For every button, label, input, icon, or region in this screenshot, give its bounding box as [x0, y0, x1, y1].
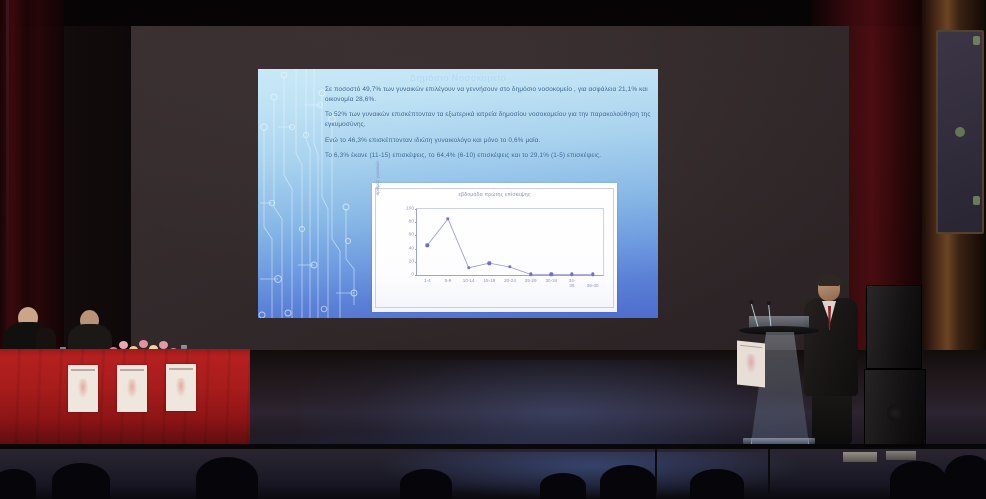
chart-y-tick-mark [415, 262, 418, 263]
slide-paragraph: Ενώ το 46,3% επισκέπτονταν ιδιώτη γυναικ… [325, 136, 652, 146]
chart-y-tick: 60 [409, 233, 414, 238]
projected-slide: Δημόσιο Νοσοκομείο Σε ποσοστό 49,7% των … [258, 69, 658, 318]
chart-y-tick-mark [415, 249, 418, 250]
chart-y-tick-mark [415, 209, 418, 210]
speaker-cone [887, 405, 903, 421]
chart-data-point [570, 273, 573, 276]
lectern-poster [737, 341, 765, 388]
chart-y-axis-label: αριθμός γυναικών [375, 147, 384, 209]
chart-x-tick: 10-14 [463, 278, 475, 283]
glasses-icon [819, 285, 839, 290]
chart-x-tick: 1-4 [424, 278, 431, 283]
chart-y-tick: 100 [406, 207, 414, 212]
audience-head [52, 463, 110, 499]
chart-title: εβδομάδα πρώτης επίσκεψης [372, 192, 617, 198]
chart-y-tick-mark [415, 235, 418, 236]
chart-y-tick-mark [415, 275, 418, 276]
audience-head [890, 461, 946, 499]
chart-y-tick: 40 [409, 246, 414, 251]
chart-data-point [529, 273, 532, 276]
chart-x-tick: 5-9 [445, 278, 452, 283]
slide-title: Δημόσιο Νοσοκομείο [258, 73, 658, 83]
slide-paragraph: Σε ποσοστό 49,7% των γυναικών επιλέγουν … [325, 85, 652, 105]
pa-speaker-stack [866, 285, 924, 445]
table-document [117, 365, 147, 412]
audience-head [196, 457, 258, 499]
presenter-hair [817, 274, 841, 285]
chart-y-tick-mark [415, 222, 418, 223]
audience-head [690, 469, 744, 499]
audience-head [540, 473, 586, 499]
lectern [737, 310, 821, 445]
chart-x-tick: 34-36 [569, 278, 576, 288]
table-document [68, 365, 98, 412]
chart-x-tick: 15-19 [483, 278, 495, 283]
chart-x-tick: 25-29 [525, 278, 537, 283]
chart-data-point [550, 273, 553, 276]
pa-speaker-cabinet-bottom [864, 369, 926, 447]
audience-silhouettes [0, 455, 986, 499]
chart-x-tick: 36-40 [587, 278, 599, 288]
audience-head [400, 469, 452, 499]
chart-data-point [591, 273, 594, 276]
table-document [166, 364, 196, 411]
pa-speaker-cabinet-top [866, 285, 922, 369]
chart-y-tick: 80 [409, 220, 414, 225]
wall-panel-ornament [973, 196, 980, 205]
chart-y-tick: 20 [409, 259, 414, 264]
screenshot-root: Δημόσιο Νοσοκομείο Σε ποσοστό 49,7% των … [0, 0, 986, 499]
chart-panel: εβδομάδα πρώτης επίσκεψης αριθμός γυναικ… [372, 183, 617, 312]
chart-x-tick: 30-34 [545, 278, 557, 283]
audience-head [944, 455, 986, 499]
audience-head [600, 465, 656, 499]
audience-head [0, 469, 36, 499]
chart-x-tick: 20-24 [504, 278, 516, 283]
slide-paragraph: Το 52% των γυναικών επισκέπτονταν τα εξω… [325, 110, 652, 130]
chart-plot-area: 0204060801001-45-910-1415-1920-2425-2930… [416, 208, 604, 276]
wall-panel-ornament [973, 36, 980, 45]
